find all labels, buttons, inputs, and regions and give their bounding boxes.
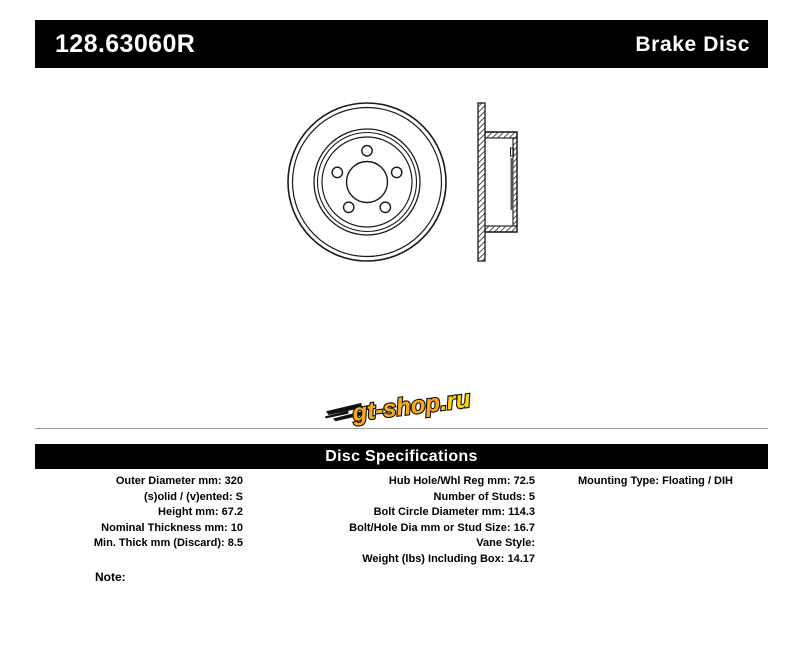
product-title: Brake Disc [635, 34, 750, 55]
spec-row: Nominal Thickness mm: 10 [35, 521, 243, 537]
stud-hole [344, 202, 354, 212]
stud-hole [392, 167, 402, 177]
spec-row: (s)olid / (v)ented: S [35, 490, 243, 506]
spec-column-middle: Hub Hole/Whl Reg mm: 72.5 Number of Stud… [253, 474, 543, 567]
technical-drawing: gt-shop.ru gt-shop.ru [0, 80, 800, 410]
note-label: Note: [95, 570, 126, 584]
spec-column-right: Mounting Type: Floating / DIH [543, 474, 768, 490]
rotor-face-view [288, 103, 446, 261]
spec-row: Min. Thick mm (Discard): 8.5 [35, 536, 243, 552]
stud-hole [332, 167, 342, 177]
svg-text:gt-shop.ru: gt-shop.ru [350, 386, 472, 427]
spec-row: Height mm: 67.2 [35, 505, 243, 521]
spec-section-bar: Disc Specifications [35, 444, 768, 469]
spec-table: Outer Diameter mm: 320 (s)olid / (v)ente… [35, 474, 768, 567]
spec-row: Weight (lbs) Including Box: 14.17 [253, 552, 535, 568]
spec-row: Bolt/Hole Dia mm or Stud Size: 16.7 [253, 521, 535, 537]
spec-row: Outer Diameter mm: 320 [35, 474, 243, 490]
gt-shop-watermark: gt-shop.ru gt-shop.ru [322, 380, 482, 432]
spec-row: Number of Studs: 5 [253, 490, 535, 506]
spec-column-left: Outer Diameter mm: 320 (s)olid / (v)ente… [35, 474, 253, 552]
spec-row: Vane Style: [253, 536, 535, 552]
stud-hole [362, 146, 372, 156]
header-bar: 128.63060R Brake Disc [35, 20, 768, 68]
part-number: 128.63060R [55, 32, 195, 57]
spec-section-title: Disc Specifications [325, 449, 477, 465]
brake-disc-illustration [285, 90, 525, 275]
section-divider [35, 428, 768, 429]
spec-row: Bolt Circle Diameter mm: 114.3 [253, 505, 535, 521]
rotor-cross-section-view [478, 103, 517, 261]
note-row: Note: [35, 570, 768, 584]
stud-hole [380, 202, 390, 212]
spec-row: Hub Hole/Whl Reg mm: 72.5 [253, 474, 535, 490]
spec-row: Mounting Type: Floating / DIH [543, 474, 768, 490]
